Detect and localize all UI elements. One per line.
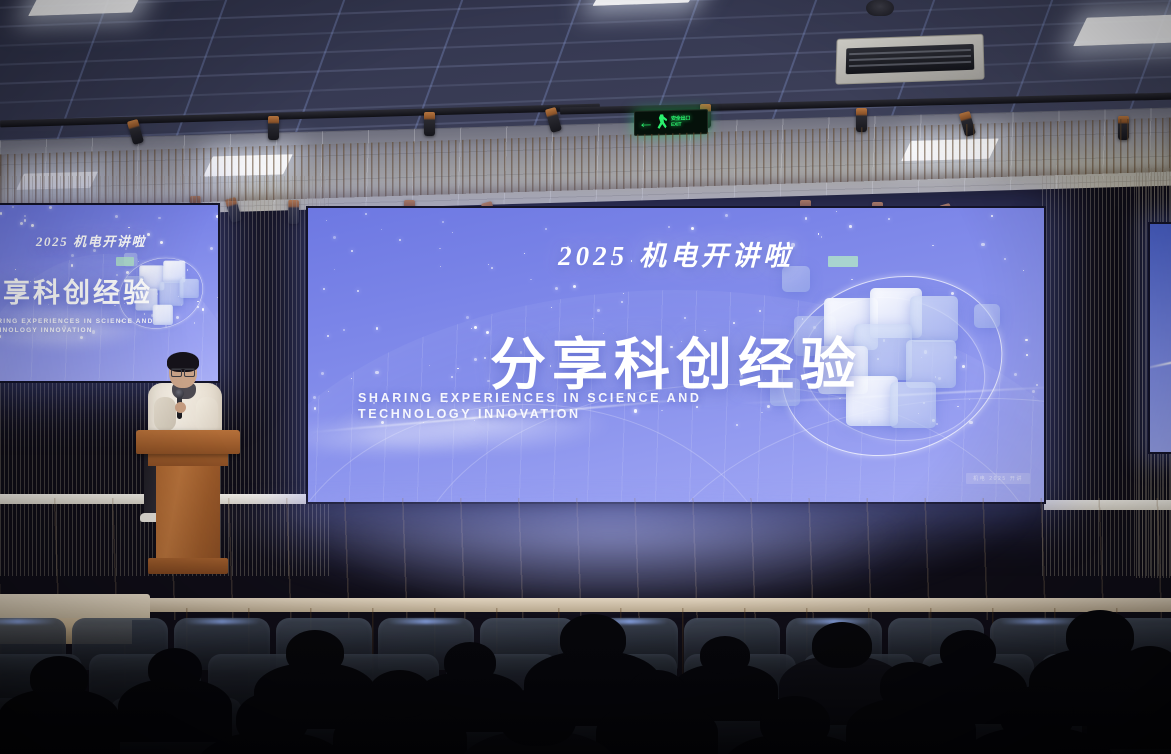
audience-head	[368, 670, 432, 718]
star-speck	[12, 206, 15, 209]
star-speck	[326, 220, 327, 221]
star-speck	[0, 212, 2, 214]
audience-head	[236, 692, 308, 746]
eyeglasses-icon	[171, 368, 195, 374]
star-speck	[545, 228, 547, 230]
star-speck	[888, 218, 890, 220]
audience-head	[500, 688, 576, 746]
exit-sign-label: 安全出口EXIT	[671, 116, 690, 128]
track-spotlight	[268, 116, 279, 140]
lectern-base	[148, 558, 228, 574]
slide-subtitle-left: SHARING EXPERIENCES IN SCIENCE AND TECHN…	[0, 317, 210, 335]
auditorium-photo: ← 安全出口EXIT 2025 机电开讲啦 分享科创经验 SHARING E	[0, 0, 1171, 754]
ceiling-ac-vent	[835, 34, 984, 85]
star-speck	[555, 287, 558, 290]
audience-head	[760, 696, 830, 748]
audience-head	[286, 630, 344, 674]
star-speck	[668, 226, 670, 228]
star-speck	[20, 222, 23, 225]
lectern-neck	[148, 452, 228, 466]
audience-head	[1066, 610, 1134, 662]
audience-head	[560, 614, 626, 664]
star-speck	[216, 215, 219, 218]
star-speck	[115, 215, 118, 218]
seated-audience	[0, 600, 1171, 754]
star-speck	[365, 213, 367, 215]
star-speck	[381, 229, 382, 230]
audience-head	[444, 642, 496, 682]
slide-title-main: 分享科创经验	[308, 320, 1044, 401]
star-speck	[991, 215, 994, 218]
star-speck	[128, 227, 129, 228]
light-streak	[1148, 356, 1171, 370]
microphone-head	[175, 389, 184, 398]
seat-ambient-light	[388, 619, 464, 624]
star-speck	[691, 227, 694, 230]
lectern-top	[136, 430, 240, 454]
audience-head	[880, 662, 942, 710]
audience-head	[700, 636, 750, 674]
audience-head	[812, 622, 872, 668]
screen-green-tag	[116, 257, 134, 266]
star-speck	[466, 316, 469, 319]
audience-head	[628, 670, 686, 714]
star-speck	[805, 217, 808, 220]
star-speck	[24, 219, 27, 222]
star-speck	[357, 290, 359, 292]
star-speck	[49, 206, 52, 209]
star-speck	[725, 214, 728, 217]
slide-corner-text: 机电 2025 开讲	[966, 473, 1030, 484]
presenter-hand	[175, 402, 186, 413]
audience-head	[148, 648, 202, 690]
recessed-panel-light	[1073, 14, 1171, 46]
star-speck	[31, 224, 34, 227]
star-speck	[218, 314, 220, 317]
led-video-wall: 2025 机电开讲啦 分享科创经验 SHARING EXPERIENCES IN…	[306, 206, 1046, 504]
star-speck	[323, 288, 325, 290]
audience-head	[30, 656, 88, 700]
slide-title-main-left: 分享科创经验	[0, 271, 218, 310]
slide-title-top: 2025 机电开讲啦	[308, 234, 1044, 273]
star-speck	[71, 254, 74, 257]
star-speck	[158, 217, 161, 220]
ceiling-speaker	[866, 0, 894, 16]
star-speck	[530, 279, 532, 281]
seat-ambient-light	[1000, 619, 1076, 624]
ac-vent-grille	[846, 44, 975, 74]
star-speck	[442, 221, 444, 223]
left-arrow-icon: ←	[638, 115, 654, 131]
star-speck	[573, 285, 576, 288]
slide-subtitle: SHARING EXPERIENCES IN SCIENCE AND TECHN…	[358, 390, 758, 422]
stage-screen-reflection	[300, 520, 920, 606]
slide-title-top-left: 2025 机电开讲啦	[0, 231, 218, 250]
running-person-icon	[656, 114, 669, 131]
lectern-body	[156, 464, 220, 560]
seat-ambient-light	[0, 619, 56, 624]
star-speck	[1045, 329, 1046, 330]
star-speck	[24, 215, 26, 217]
wooden-lectern	[136, 418, 240, 578]
side-led-panel-right	[1148, 222, 1171, 454]
audience-head	[940, 630, 996, 672]
star-speck	[849, 225, 852, 228]
track-spotlight	[424, 112, 435, 136]
seat-ambient-light	[184, 619, 260, 624]
star-speck	[836, 211, 837, 212]
audience-head	[1000, 686, 1074, 742]
audience-head	[1120, 646, 1171, 692]
